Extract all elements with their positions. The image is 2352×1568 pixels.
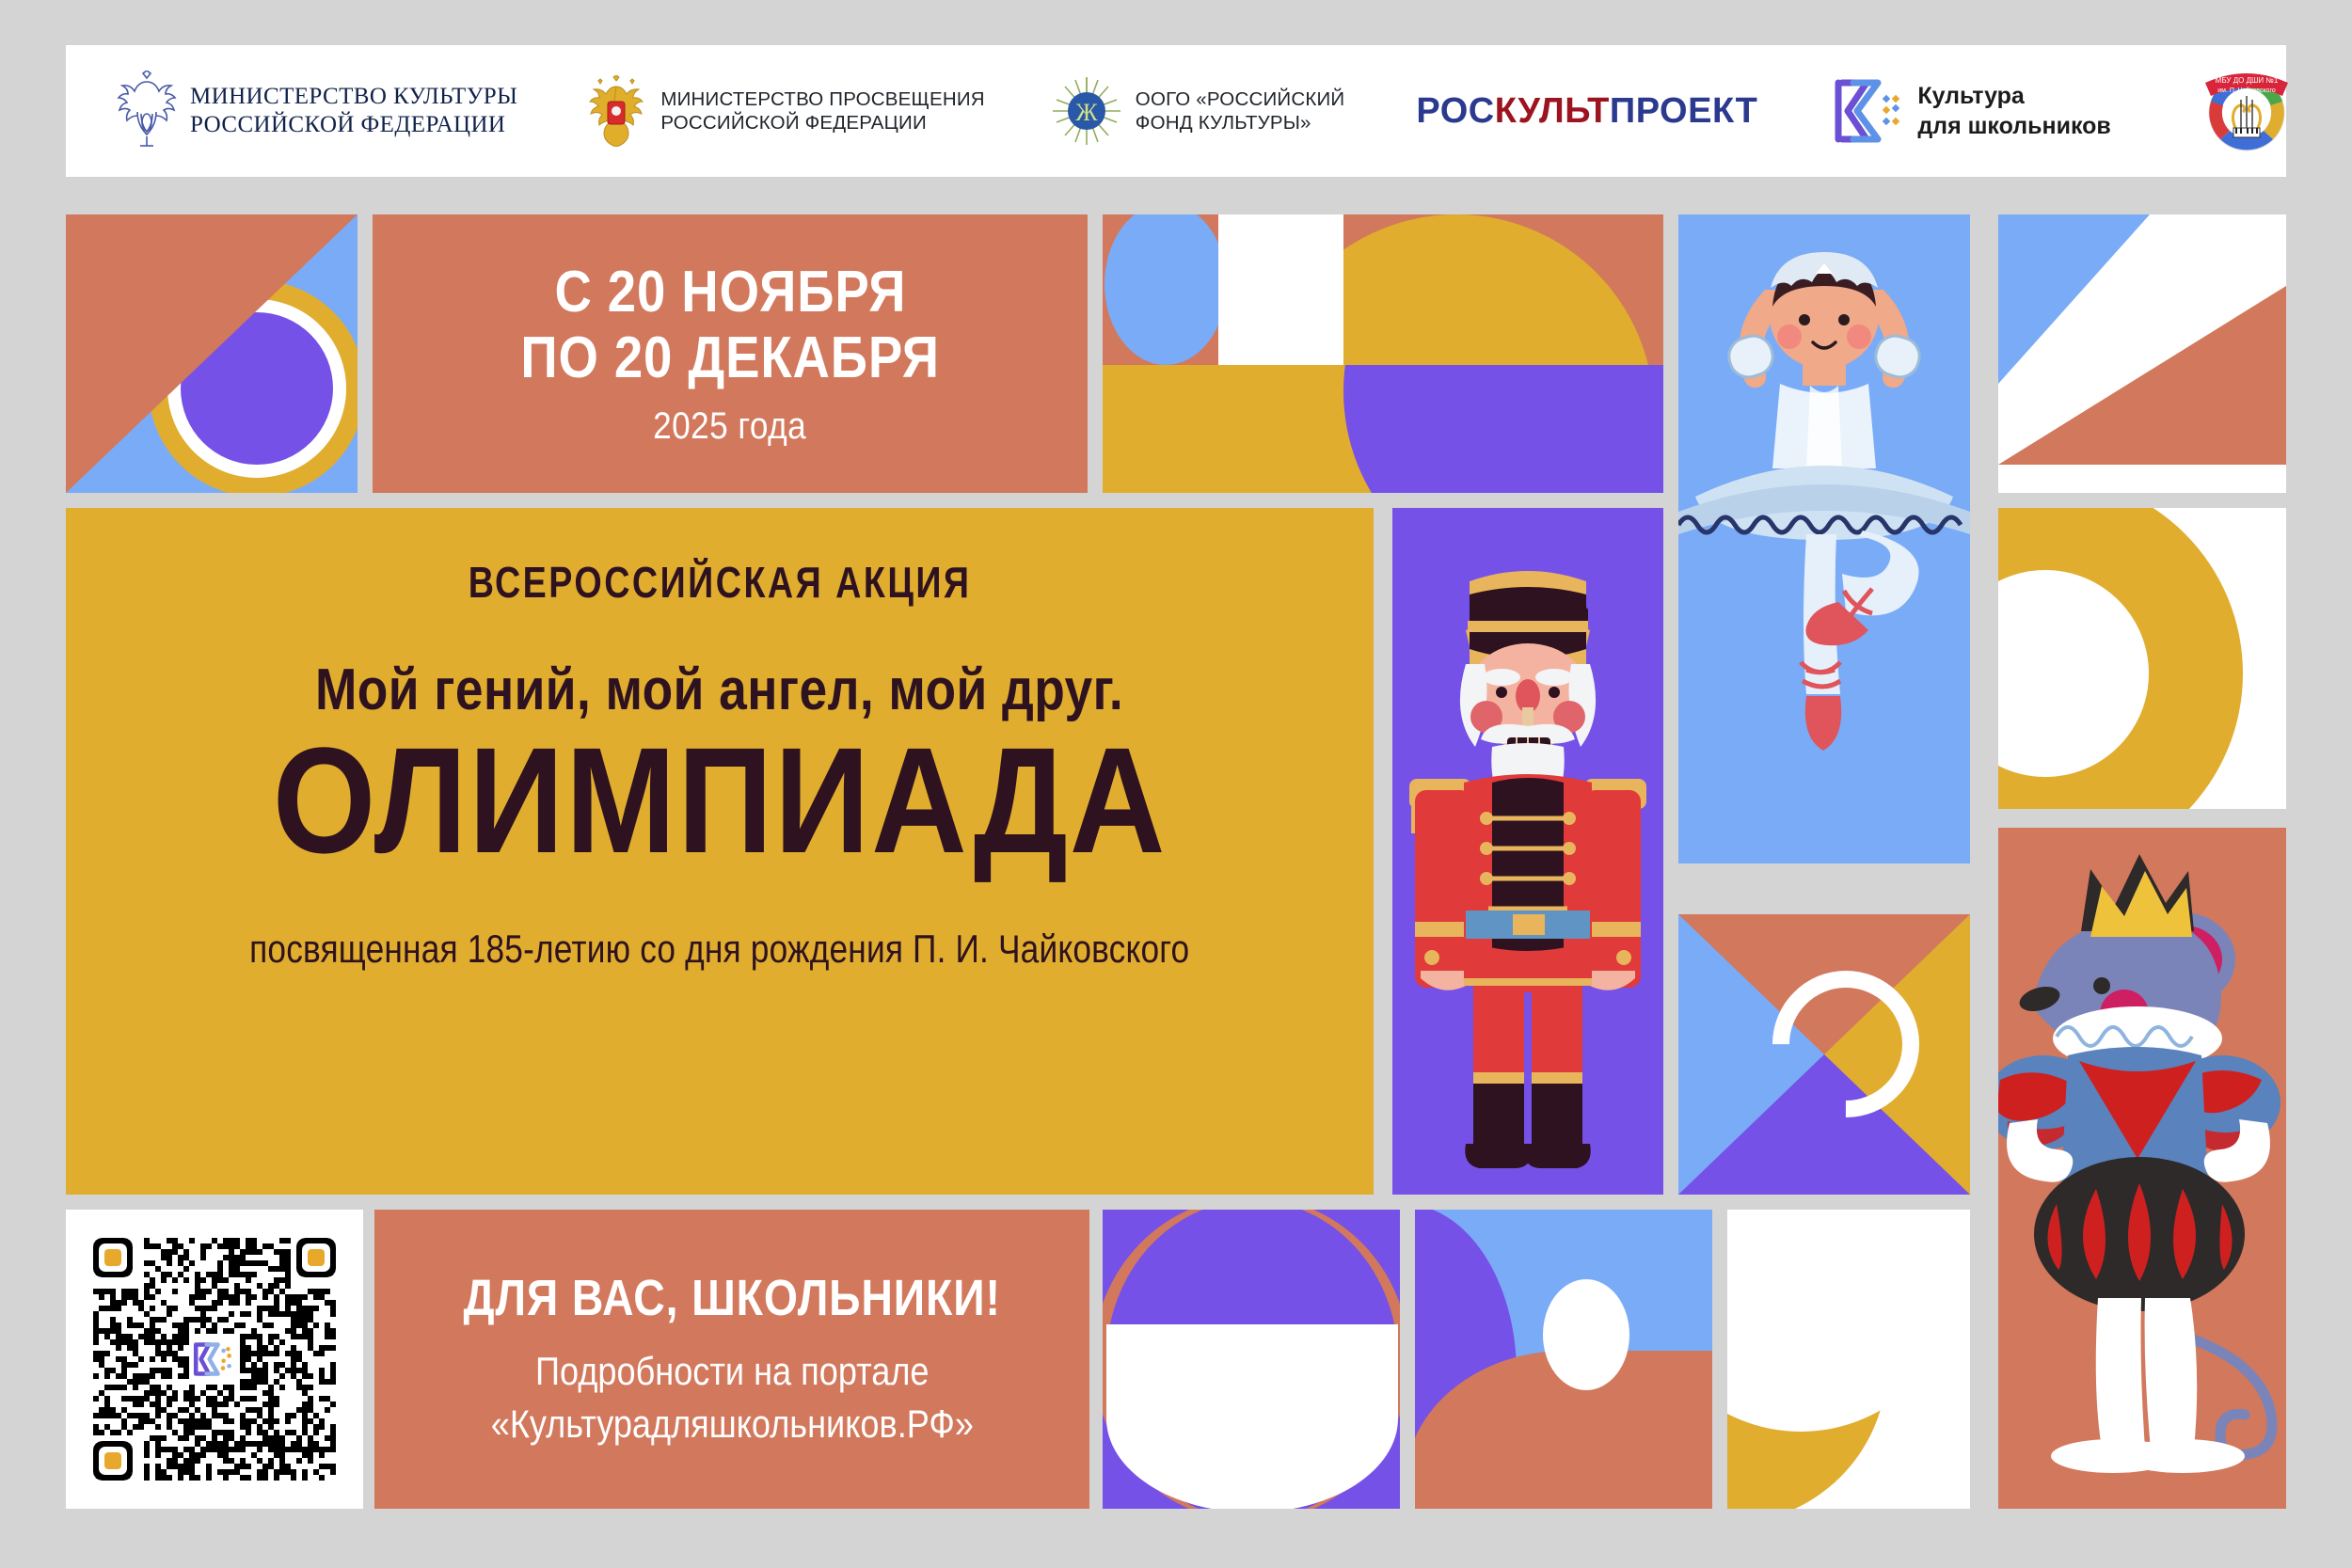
- crest-ribbon-line-2: им. П. Чайковского: [2217, 87, 2276, 94]
- crest-ribbon-line-1: МБУ ДО ДШИ №1: [2215, 76, 2278, 85]
- logo-music-school-tchaikovsky: МБУ ДО ДШИ №1 им. П. Чайковского: [2198, 62, 2296, 160]
- ballerina-svg: [1678, 214, 1970, 863]
- deco-tile-violet-ellipse: [1103, 1210, 1400, 1509]
- blue-circle: [1104, 214, 1227, 365]
- dedication-text: посвященная 185-летию со дня рождения П.…: [249, 927, 1189, 972]
- subtitle-text: Мой гений, мой ангел, мой друг.: [315, 657, 1123, 723]
- date-year: 2025 года: [653, 405, 806, 448]
- terracotta-triangle: [1998, 286, 2286, 465]
- deco-tile-triangles: [1998, 214, 2286, 493]
- school-crest-lyre-ribbon-icon: МБУ ДО ДШИ №1 им. П. Чайковского: [2198, 62, 2296, 160]
- mouse-king-svg: [1998, 828, 2286, 1509]
- qr-code[interactable]: [93, 1238, 336, 1481]
- cta-line-1: Подробности на портале: [535, 1346, 929, 1397]
- page-title: ОЛИМПИАДА: [273, 729, 1167, 872]
- kicker-text: ВСЕРОССИЙСКАЯ АКЦИЯ: [469, 557, 972, 608]
- starburst-monogram-emblem-icon: Ж: [1051, 75, 1122, 147]
- logo-line-2: для школьников: [1917, 111, 2111, 141]
- date-line-2: ПО 20 ДЕКАБРЯ: [520, 325, 940, 390]
- logo-line-2: ФОНД КУЛЬТУРЫ»: [1136, 111, 1345, 135]
- logo-line-1: Культура: [1917, 81, 2111, 111]
- logo-ministry-of-culture: МИНИСТЕРСТВО КУЛЬТУРЫ РОССИЙСКОЙ ФЕДЕРАЦ…: [117, 71, 517, 151]
- roskultproekt-wordmark: РОСКУЛЬТПРОЕКТ: [1416, 91, 1757, 132]
- logo-line-1: МИНИСТЕРСТВО КУЛЬТУРЫ: [190, 83, 517, 112]
- logo-line-2: РОССИЙСКОЙ ФЕДЕРАЦИИ: [190, 111, 517, 140]
- poster: МИНИСТЕРСТВО КУЛЬТУРЫ РОССИЙСКОЙ ФЕДЕРАЦ…: [0, 0, 2352, 1568]
- logo-line-2: РОССИЙСКОЙ ФЕДЕРАЦИИ: [660, 111, 984, 135]
- deco-tile-gold-band: [1103, 365, 1663, 493]
- deco-tile-blue-circle-arc: [1415, 1210, 1712, 1509]
- double-headed-eagle-lyre-emblem-icon: [117, 71, 177, 151]
- ballerina-illustration: [1678, 214, 1970, 863]
- date-line-1: С 20 НОЯБРЯ: [554, 260, 906, 325]
- white-ellipse: [1543, 1279, 1629, 1390]
- deco-tile-gold-crescent: [1998, 508, 2286, 809]
- wordmark-part-3: ПРОЕКТ: [1610, 91, 1757, 131]
- wordmark-part-2: КУЛЬТ: [1495, 91, 1610, 131]
- deco-tile-gold-arc-top: [1343, 214, 1663, 365]
- logo-line-1: МИНИСТЕРСТВО ПРОСВЕЩЕНИЯ: [660, 87, 984, 111]
- main-content-panel: ВСЕРОССИЙСКАЯ АКЦИЯ Мой гений, мой ангел…: [66, 508, 1374, 1195]
- deco-tile-white-square: [1218, 214, 1343, 365]
- logo-roskultproekt: РОСКУЛЬТПРОЕКТ: [1416, 91, 1757, 132]
- cta-panel: ДЛЯ ВАС, ШКОЛЬНИКИ! Подробности на порта…: [374, 1210, 1089, 1509]
- cta-heading: ДЛЯ ВАС, ШКОЛЬНИКИ!: [463, 1269, 1000, 1327]
- wordmark-part-1: РОС: [1416, 91, 1494, 131]
- white-disc-cut: [1727, 1210, 1961, 1432]
- kdsh-bracket-logo-icon: [1829, 75, 1904, 147]
- nutcracker-svg: [1392, 508, 1663, 1195]
- russian-coat-of-arms-icon: [585, 75, 647, 147]
- qr-code-panel[interactable]: [66, 1210, 363, 1509]
- terracotta-triangle: [66, 214, 358, 493]
- nutcracker-illustration: [1392, 508, 1663, 1195]
- sponsor-logo-bar: МИНИСТЕРСТВО КУЛЬТУРЫ РОССИЙСКОЙ ФЕДЕРАЦ…: [66, 45, 2286, 177]
- deco-tile-arc-quarter: [66, 214, 358, 493]
- logo-russian-culture-fund: Ж ООГО «РОССИЙСКИЙ ФОНД КУЛЬТУРЫ»: [1051, 75, 1345, 147]
- mouse-king-illustration: [1998, 828, 2286, 1509]
- cta-line-2: «Культурадляшкольников.РФ»: [490, 1399, 973, 1449]
- logo-line-1: ООГО «РОССИЙСКИЙ: [1136, 87, 1345, 111]
- deco-tile-four-triangles: [1678, 914, 1970, 1195]
- svg-text:Ж: Ж: [1075, 99, 1098, 126]
- logo-ministry-of-education: МИНИСТЕРСТВО ПРОСВЕЩЕНИЯ РОССИЙСКОЙ ФЕДЕ…: [585, 75, 984, 147]
- gold-arc-outer: [1343, 214, 1654, 365]
- deco-tile-gold-leaf: [1727, 1210, 1970, 1509]
- white-half-ellipse: [1106, 1324, 1398, 1509]
- logo-culture-for-schoolchildren: Культура для школьников: [1829, 75, 2111, 147]
- date-panel: С 20 НОЯБРЯ ПО 20 ДЕКАБРЯ 2025 года: [373, 214, 1088, 493]
